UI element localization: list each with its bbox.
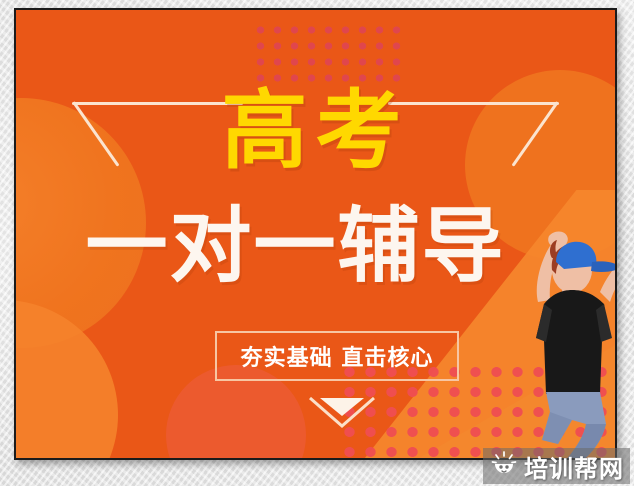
- jumping-student-illustration: [494, 228, 615, 458]
- watermark: 培训帮网: [483, 448, 630, 484]
- watermark-text: 培训帮网: [524, 449, 624, 484]
- headline-text: 高考: [16, 88, 615, 174]
- sun-face-icon: [491, 451, 517, 482]
- banner-image: 高考 一对一辅导 夯实基础 直击核心: [0, 0, 634, 486]
- promo-card: 高考 一对一辅导 夯实基础 直击核心: [14, 8, 617, 460]
- chevron-down-icon: [306, 392, 378, 432]
- dot-pattern-top: [252, 22, 404, 90]
- tagline-text: 夯实基础 直击核心: [241, 340, 434, 372]
- circle-decoration-left-lower: [16, 300, 118, 458]
- tagline-box: 夯实基础 直击核心: [215, 331, 459, 381]
- card-canvas: 高考 一对一辅导 夯实基础 直击核心: [16, 10, 615, 458]
